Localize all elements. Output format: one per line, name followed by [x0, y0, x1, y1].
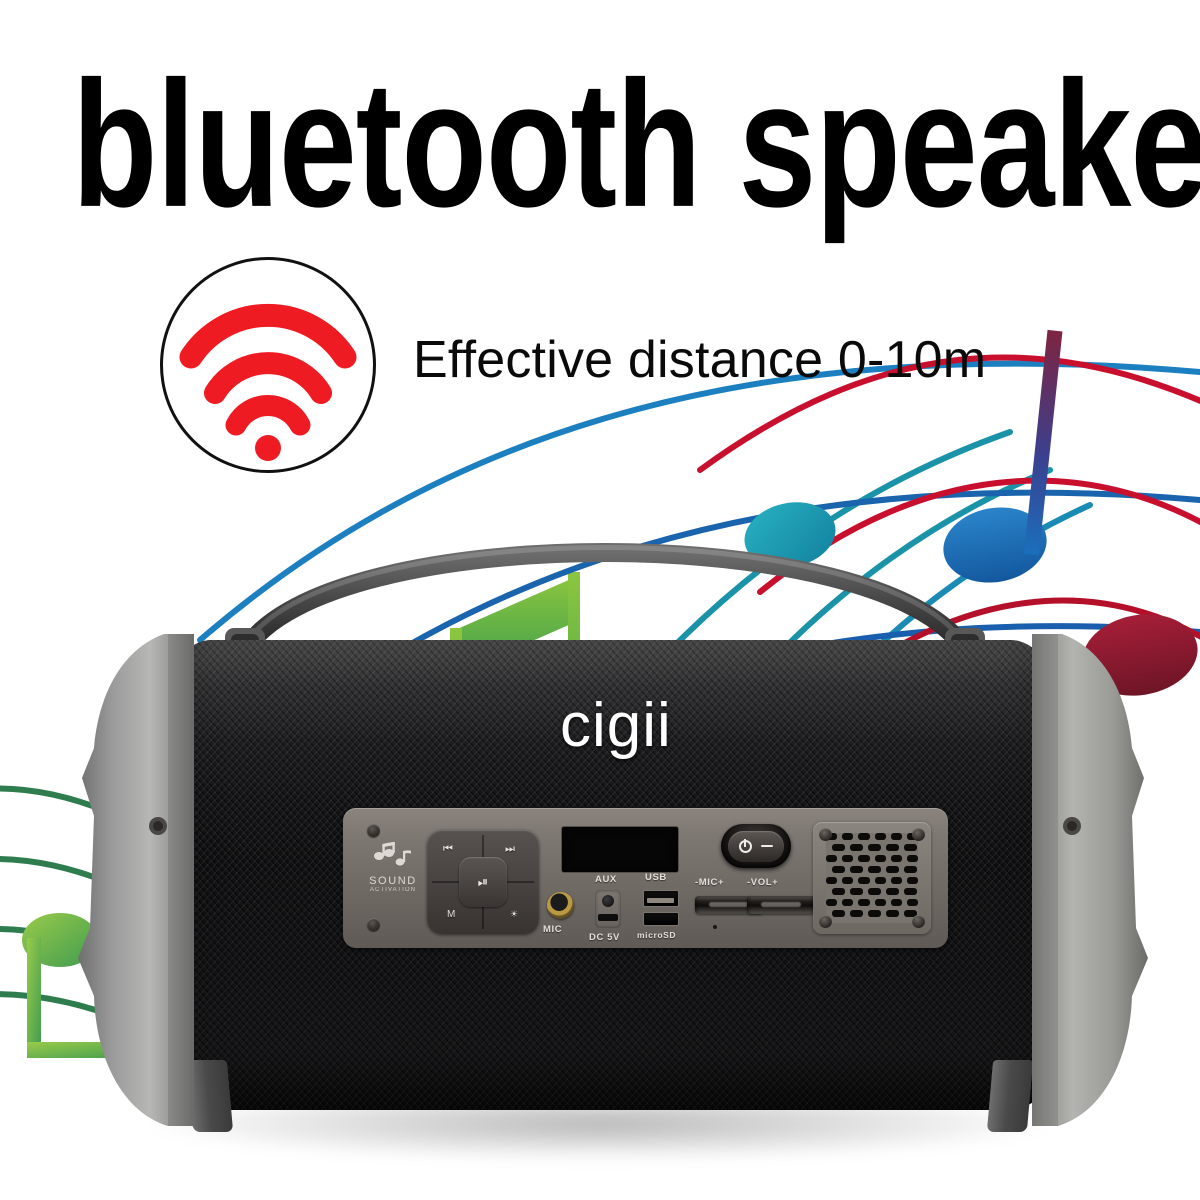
dc-pin [602, 895, 614, 907]
vent-slot [858, 833, 869, 840]
aux-slot [598, 914, 618, 921]
marketing-banner: bluetooth speaker Effective distance 0-1… [0, 0, 1200, 1200]
vent-slot [907, 877, 918, 884]
vent-slot [886, 888, 899, 895]
microsd-label: microSD [637, 930, 676, 940]
dc-5v-port[interactable] [595, 890, 621, 928]
vent-slot [832, 844, 845, 851]
power-on-icon [739, 840, 752, 853]
vent-screw-bottom-right [912, 915, 925, 928]
vent-slot [868, 910, 881, 917]
vent-slot [875, 877, 886, 884]
vent-slot [826, 855, 837, 862]
vent-screw-bottom-left [819, 915, 832, 928]
vent-slot [907, 899, 918, 906]
usb-tongue [647, 898, 674, 903]
vent-slot-row [832, 888, 918, 895]
vent-slot [868, 844, 881, 851]
vent-slot-row [832, 866, 918, 873]
vent-slot [891, 833, 902, 840]
panel-screw-bottom-left [367, 918, 380, 931]
usb-port[interactable] [643, 890, 679, 907]
vent-slot [886, 910, 899, 917]
passive-radiator-vent [813, 822, 931, 934]
vent-slot [858, 899, 869, 906]
dc-5v-label: DC 5V [589, 932, 620, 943]
vent-slot [875, 899, 886, 906]
vent-slot [904, 844, 917, 851]
mic-volume-label: -MIC+ [695, 877, 724, 888]
previous-track-button[interactable]: ⏮ [443, 844, 453, 855]
vent-slot [886, 866, 899, 873]
reset-pinhole[interactable] [713, 925, 717, 929]
vent-slot-row [826, 877, 918, 884]
vent-slot-row [826, 833, 918, 840]
panel-screw-top-left [367, 824, 380, 837]
vent-slot [875, 833, 886, 840]
sound-activation-subtitle: ACTIVATION [359, 887, 427, 893]
vent-slot-row [832, 910, 918, 917]
dpad-control[interactable]: ⏮ ⏭ M ☀ ⏯ [427, 830, 539, 934]
vent-slot-row [826, 855, 918, 862]
vent-screw-top-left [819, 828, 832, 841]
vent-slot [875, 855, 886, 862]
vent-slot [891, 877, 902, 884]
vent-screw-top-right [912, 828, 925, 841]
vent-slot [842, 833, 853, 840]
play-pause-button[interactable]: ⏯ [459, 857, 507, 907]
speaker-foot-right [987, 1060, 1033, 1132]
aux-label: AUX [595, 874, 617, 885]
power-switch[interactable] [721, 824, 791, 868]
mic-label: MIC [543, 924, 562, 935]
microsd-slot[interactable] [643, 912, 679, 926]
vent-slot [826, 877, 837, 884]
vent-slot [850, 866, 863, 873]
wifi-signal-badge [160, 257, 376, 473]
vent-slot [832, 866, 845, 873]
led-display [561, 826, 679, 873]
music-notes-icon [373, 842, 413, 868]
vent-slot [907, 855, 918, 862]
power-off-icon [761, 845, 773, 848]
next-track-button[interactable]: ⏭ [505, 844, 515, 855]
vent-slot [850, 844, 863, 851]
volume-rocker[interactable] [747, 896, 815, 914]
right-end-cap [1028, 628, 1158, 1128]
vent-slot [904, 888, 917, 895]
vent-slot [858, 855, 869, 862]
vent-slot [891, 899, 902, 906]
mic-jack[interactable] [547, 892, 574, 919]
vent-slot-row [832, 844, 918, 851]
power-rocker[interactable] [728, 831, 784, 862]
volume-label: -VOL+ [747, 877, 778, 888]
vent-slot [842, 899, 853, 906]
vent-slot [842, 877, 853, 884]
tagline-text: Effective distance 0-10m [413, 330, 986, 390]
vent-slot [891, 855, 902, 862]
vent-slot [832, 888, 845, 895]
page-title: bluetooth speaker [72, 56, 1066, 233]
sound-activation-title: SOUND [359, 875, 427, 887]
play-pause-glyph: ⏯ [478, 874, 488, 890]
bluetooth-speaker-product: cigii S [60, 500, 1155, 1180]
left-end-cap [68, 628, 198, 1128]
vent-slot [826, 899, 837, 906]
vent-slot-row [826, 899, 918, 906]
vent-slot [842, 855, 853, 862]
vent-slot [858, 877, 869, 884]
vent-slot [850, 888, 863, 895]
vent-slots [826, 833, 918, 923]
usb-label: USB [645, 872, 667, 883]
light-button[interactable]: ☀ [510, 910, 518, 919]
vent-slot [904, 866, 917, 873]
vent-slot [886, 844, 899, 851]
wifi-signal-icon [163, 260, 373, 470]
sound-activation-mark: SOUND ACTIVATION [359, 842, 427, 893]
mode-button[interactable]: M [447, 910, 455, 920]
vent-slot [850, 910, 863, 917]
control-panel: SOUND ACTIVATION ⏮ ⏭ M ☀ ⏯ MIC AUX [343, 808, 948, 948]
vent-slot [868, 888, 881, 895]
brand-logo: cigii [560, 690, 672, 761]
vent-slot [868, 866, 881, 873]
vent-slot [832, 910, 845, 917]
